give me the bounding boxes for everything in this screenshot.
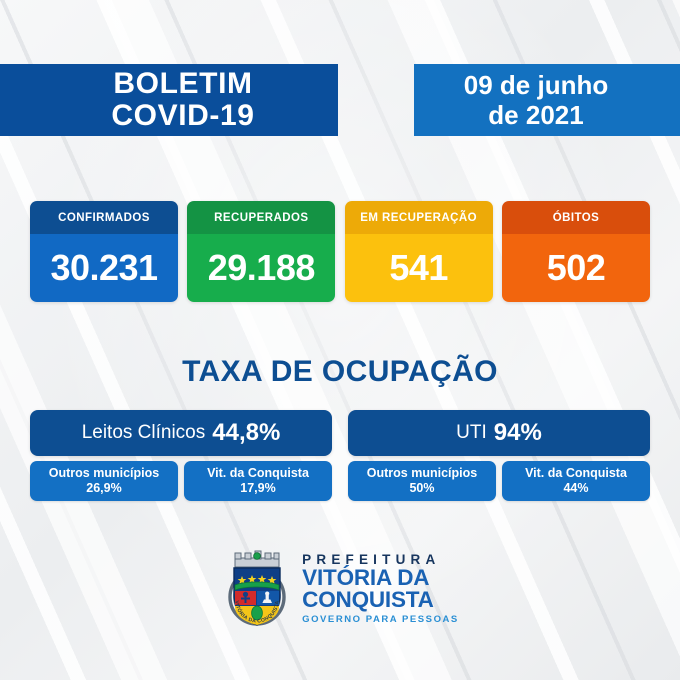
sub-value: 26,9% [86,481,121,496]
bulletin-title-banner: BOLETIM COVID-19 [0,64,338,136]
sub-value: 50% [409,481,434,496]
bulletin-date-line-2: de 2021 [488,100,583,130]
occupancy-value-leitos-clinicos: 44,8% [212,419,280,447]
occupancy-subs-leitos-clinicos: Outros municípios 26,9% Vit. da Conquist… [30,461,332,501]
occupancy-sub-vitoria-da-conquista-leitos: Vit. da Conquista 17,9% [184,461,332,501]
logo-slogan: GOVERNO PARA PESSOAS [302,613,459,626]
logo-text-block: PREFEITURA VITÓRIA DA CONQUISTA GOVERNO … [302,552,459,626]
occupancy-panels-row: Leitos Clínicos 44,8% Outros municípios … [30,410,650,501]
statistics-cards-row: CONFIRMADOS 30.231 RECUPERADOS 29.188 EM… [30,201,650,302]
stat-label-em-recuperacao: EM RECUPERAÇÃO [360,212,477,224]
stat-label-confirmados: CONFIRMADOS [58,212,150,224]
occupancy-sub-outros-municipios-leitos: Outros municípios 26,9% [30,461,178,501]
stat-card-em-recuperacao: EM RECUPERAÇÃO 541 [345,201,493,302]
sub-label: Vit. da Conquista [525,466,627,481]
occupancy-panel-uti: UTI 94% Outros municípios 50% Vit. da Co… [348,410,650,501]
stat-card-header: CONFIRMADOS [30,201,178,234]
occupancy-value-uti: 94% [494,419,542,447]
prefeitura-logo: VITÓRIA DA CONQUISTA PREFEITURA VITÓRIA … [0,549,680,629]
stat-value-recuperados: 29.188 [208,250,315,286]
occupancy-sub-outros-municipios-uti: Outros municípios 50% [348,461,496,501]
stat-card-header: EM RECUPERAÇÃO [345,201,493,234]
stat-label-recuperados: RECUPERADOS [214,212,308,224]
sub-label: Outros municípios [49,466,159,481]
bulletin-date-banner: 09 de junho de 2021 [414,64,680,136]
stat-card-header: ÓBITOS [502,201,650,234]
sub-value: 44% [563,481,588,496]
stat-label-obitos: ÓBITOS [553,212,600,224]
occupancy-sub-vitoria-da-conquista-uti: Vit. da Conquista 44% [502,461,650,501]
stat-card-body: 541 [345,234,493,302]
logo-city-line-1: VITÓRIA DA [302,567,459,589]
stat-value-obitos: 502 [547,250,606,286]
logo-city-line-2: CONQUISTA [302,589,459,611]
bulletin-title-line-1: BOLETIM [113,68,252,100]
occupancy-section-title: TAXA DE OCUPAÇÃO [0,355,680,389]
occupancy-subs-uti: Outros municípios 50% Vit. da Conquista … [348,461,650,501]
stat-card-body: 30.231 [30,234,178,302]
coat-of-arms-icon: VITÓRIA DA CONQUISTA [221,549,293,629]
sub-value: 17,9% [240,481,275,496]
stat-card-confirmados: CONFIRMADOS 30.231 [30,201,178,302]
sub-label: Outros municípios [367,466,477,481]
occupancy-main-uti: UTI 94% [348,410,650,456]
occupancy-label-leitos-clinicos: Leitos Clínicos [82,422,206,444]
covid-bulletin-poster: BOLETIM COVID-19 09 de junho de 2021 CON… [0,0,680,680]
stat-value-em-recuperacao: 541 [389,250,448,286]
occupancy-panel-leitos-clinicos: Leitos Clínicos 44,8% Outros municípios … [30,410,332,501]
stat-card-body: 502 [502,234,650,302]
occupancy-main-leitos-clinicos: Leitos Clínicos 44,8% [30,410,332,456]
stat-card-obitos: ÓBITOS 502 [502,201,650,302]
sub-label: Vit. da Conquista [207,466,309,481]
stat-card-body: 29.188 [187,234,335,302]
bulletin-date-line-1: 09 de junho [464,70,608,100]
occupancy-label-uti: UTI [456,422,487,444]
stat-card-recuperados: RECUPERADOS 29.188 [187,201,335,302]
stat-value-confirmados: 30.231 [50,250,157,286]
bulletin-title-line-2: COVID-19 [111,100,254,132]
stat-card-header: RECUPERADOS [187,201,335,234]
